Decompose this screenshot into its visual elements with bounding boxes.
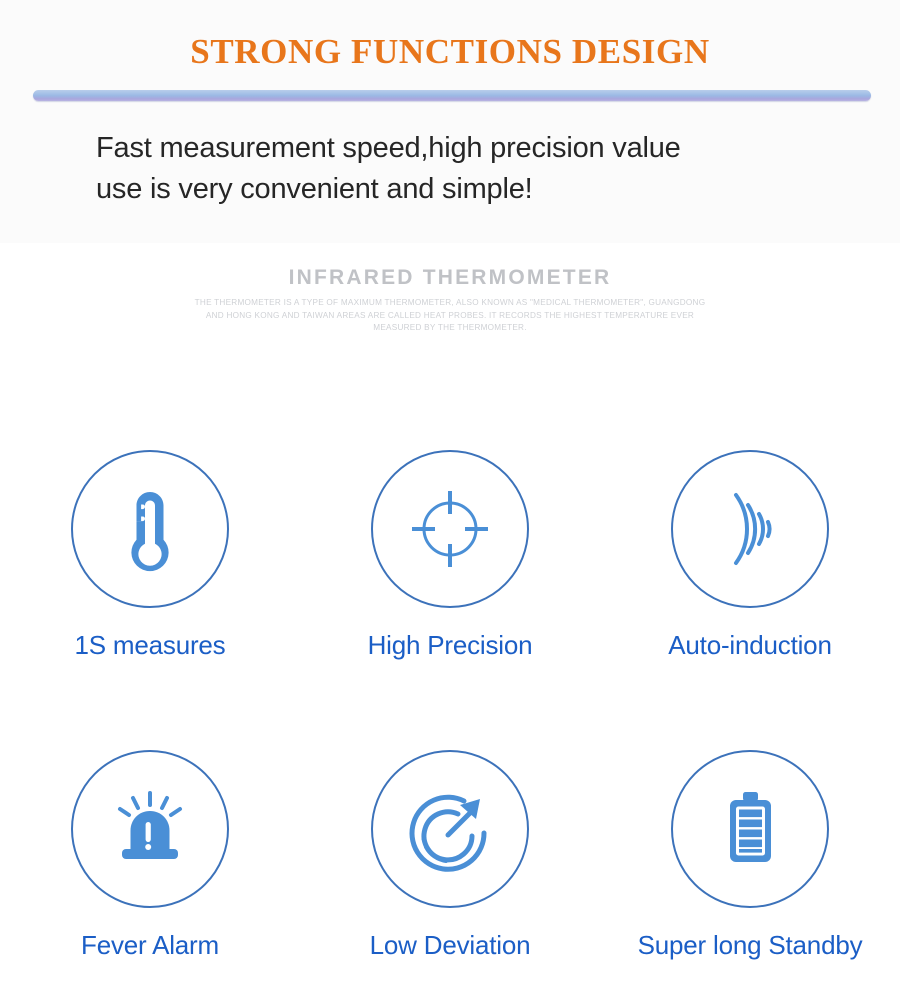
watermark-title: INFRARED THERMOMETER	[0, 266, 900, 290]
feature-label: Super long Standby	[638, 930, 863, 961]
battery-full-icon	[702, 781, 798, 877]
feature-icon-circle	[71, 450, 229, 608]
page-title: STRONG FUNCTIONS DESIGN	[0, 32, 900, 72]
feature-item-super-long-standby[interactable]: Super long Standby	[600, 750, 900, 961]
feature-item-1s-measures[interactable]: 1S measures	[0, 450, 300, 661]
arrow-target-icon	[402, 781, 498, 877]
feature-grid: 1S measures High Precision	[0, 450, 900, 961]
feature-label: 1S measures	[75, 630, 226, 661]
feature-label: Auto-induction	[668, 630, 831, 661]
feature-row-2: Fever Alarm Low Devia	[0, 750, 900, 961]
intro-line-1: Fast measurement speed,high precision va…	[96, 128, 856, 169]
feature-label: Low Deviation	[370, 930, 531, 961]
thermometer-icon	[105, 484, 195, 574]
feature-icon-circle	[71, 750, 229, 908]
divider-bar	[33, 90, 871, 101]
divider	[33, 90, 871, 104]
feature-item-auto-induction[interactable]: Auto-induction	[600, 450, 900, 661]
feature-item-high-precision[interactable]: High Precision	[300, 450, 600, 661]
feature-label: High Precision	[368, 630, 533, 661]
watermark-body: THE THERMOMETER IS A TYPE OF MAXIMUM THE…	[190, 297, 710, 335]
feature-label: Fever Alarm	[81, 930, 219, 961]
feature-item-low-deviation[interactable]: Low Deviation	[300, 750, 600, 961]
alarm-beacon-icon	[102, 781, 198, 877]
intro-paragraph: Fast measurement speed,high precision va…	[96, 128, 856, 210]
feature-item-fever-alarm[interactable]: Fever Alarm	[0, 750, 300, 961]
crosshair-target-icon	[402, 481, 498, 577]
feature-icon-circle	[371, 750, 529, 908]
feature-icon-circle	[371, 450, 529, 608]
feature-icon-circle	[671, 450, 829, 608]
intro-line-2: use is very convenient and simple!	[96, 169, 856, 210]
feature-icon-circle	[671, 750, 829, 908]
signal-waves-icon	[702, 481, 798, 577]
promo-page: STRONG FUNCTIONS DESIGN Fast measurement…	[0, 0, 900, 1000]
feature-row-1: 1S measures High Precision	[0, 450, 900, 661]
